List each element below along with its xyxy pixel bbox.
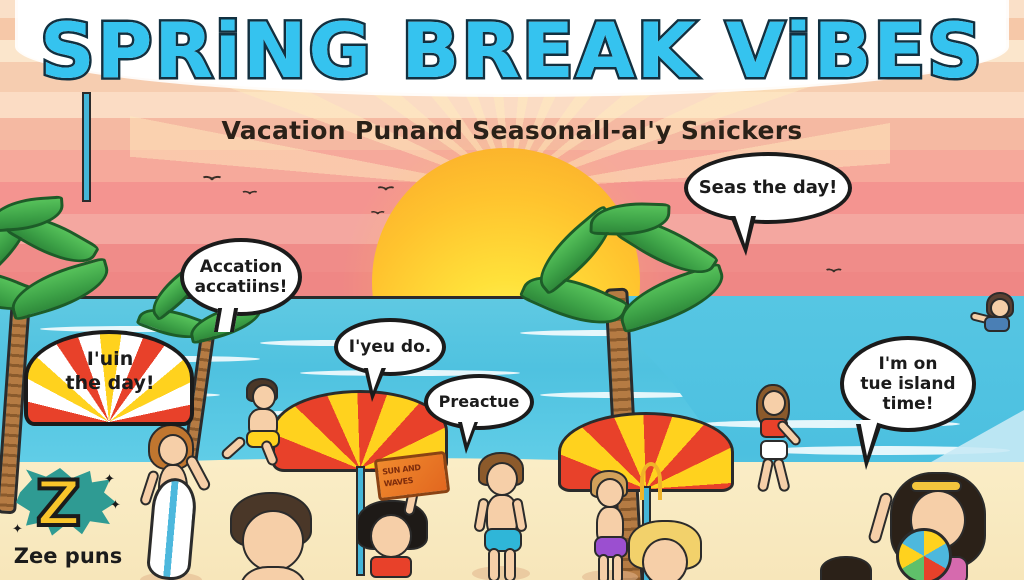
speech-text: I'yeu do. [349, 337, 431, 357]
swimsuit [984, 316, 1010, 332]
beach-ball [896, 528, 952, 580]
speech-text: Preactue [439, 393, 520, 412]
speech-tail-inner [734, 212, 752, 244]
speech-bubble-accation[interactable]: Accation accatiins! [180, 238, 302, 316]
speech-tail-inner [860, 420, 878, 456]
sparkle-icon: ✦ [104, 472, 115, 487]
page-title: SPRiNG BREAK ViBES [0, 6, 1024, 95]
bird-icon [200, 176, 222, 185]
page-subtitle: Vacation Punand Seasonall-al'y Snickers [0, 116, 1024, 145]
speech-bubble-island-time[interactable]: I'm on tue island time! [840, 336, 976, 432]
bird-icon [375, 186, 395, 194]
bird-icon [240, 191, 258, 198]
squiggle-decoration [640, 462, 662, 500]
head [990, 298, 1010, 318]
speech-text: I'm on tue island time! [860, 354, 955, 414]
speech-line-2: tue island [860, 374, 955, 394]
protest-sign: SUN AND WAVES [374, 451, 451, 501]
speech-line-3: time! [883, 394, 934, 414]
speech-line-2: the day! [66, 372, 155, 394]
speech-bubble-seas-the-day[interactable]: Seas the day! [684, 152, 852, 224]
speech-text: I'uin the day! [46, 348, 174, 396]
brand-logo[interactable]: Z ✦ ✦ ✦ Zee puns [8, 468, 128, 576]
umbrella-bubble-pole [82, 92, 91, 202]
ground-shadow [472, 566, 530, 580]
speech-line-1: I'uin [87, 348, 133, 370]
head [762, 390, 786, 416]
sign-line-1: SUN AND [382, 463, 421, 477]
speech-bubble-i-yeu-do[interactable]: I'yeu do. [334, 318, 446, 376]
head [642, 538, 688, 580]
speech-tail-inner [461, 418, 476, 443]
leg [612, 554, 623, 580]
swimsuit [370, 556, 412, 578]
speech-bubble-preactue[interactable]: Preactue [424, 374, 534, 430]
head [158, 434, 188, 466]
sparkle-icon: ✦ [110, 498, 121, 513]
leg [598, 554, 609, 580]
sunglasses-on-head [910, 480, 962, 492]
speech-tail-inner [367, 364, 383, 391]
speech-line-1: Accation [200, 257, 283, 277]
ground-shadow [582, 570, 638, 580]
bird-icon [824, 269, 843, 277]
poster-canvas: SUN AND WAVES [0, 0, 1024, 580]
leg [488, 548, 500, 580]
head [370, 514, 412, 558]
speech-line-1: I'm on [879, 354, 938, 374]
speech-text: Seas the day! [699, 177, 838, 198]
speech-text: Accation accatiins! [195, 257, 288, 297]
speech-umbrella-win-the-day[interactable]: I'uin the day! [24, 330, 194, 430]
logo-letter: Z [36, 474, 96, 536]
head [596, 478, 624, 508]
speech-tail [214, 308, 238, 332]
sparkle-icon: ✦ [12, 522, 23, 537]
head [252, 384, 276, 410]
head [486, 462, 518, 496]
hair [820, 556, 872, 580]
logo-wordmark: Zee puns [8, 544, 128, 568]
leg [504, 548, 516, 580]
head [242, 510, 304, 572]
bird-icon [369, 211, 386, 218]
speech-line-2: accatiins! [195, 277, 288, 297]
swimsuit-bottom [760, 440, 788, 460]
sign-line-2: WAVES [383, 476, 413, 489]
